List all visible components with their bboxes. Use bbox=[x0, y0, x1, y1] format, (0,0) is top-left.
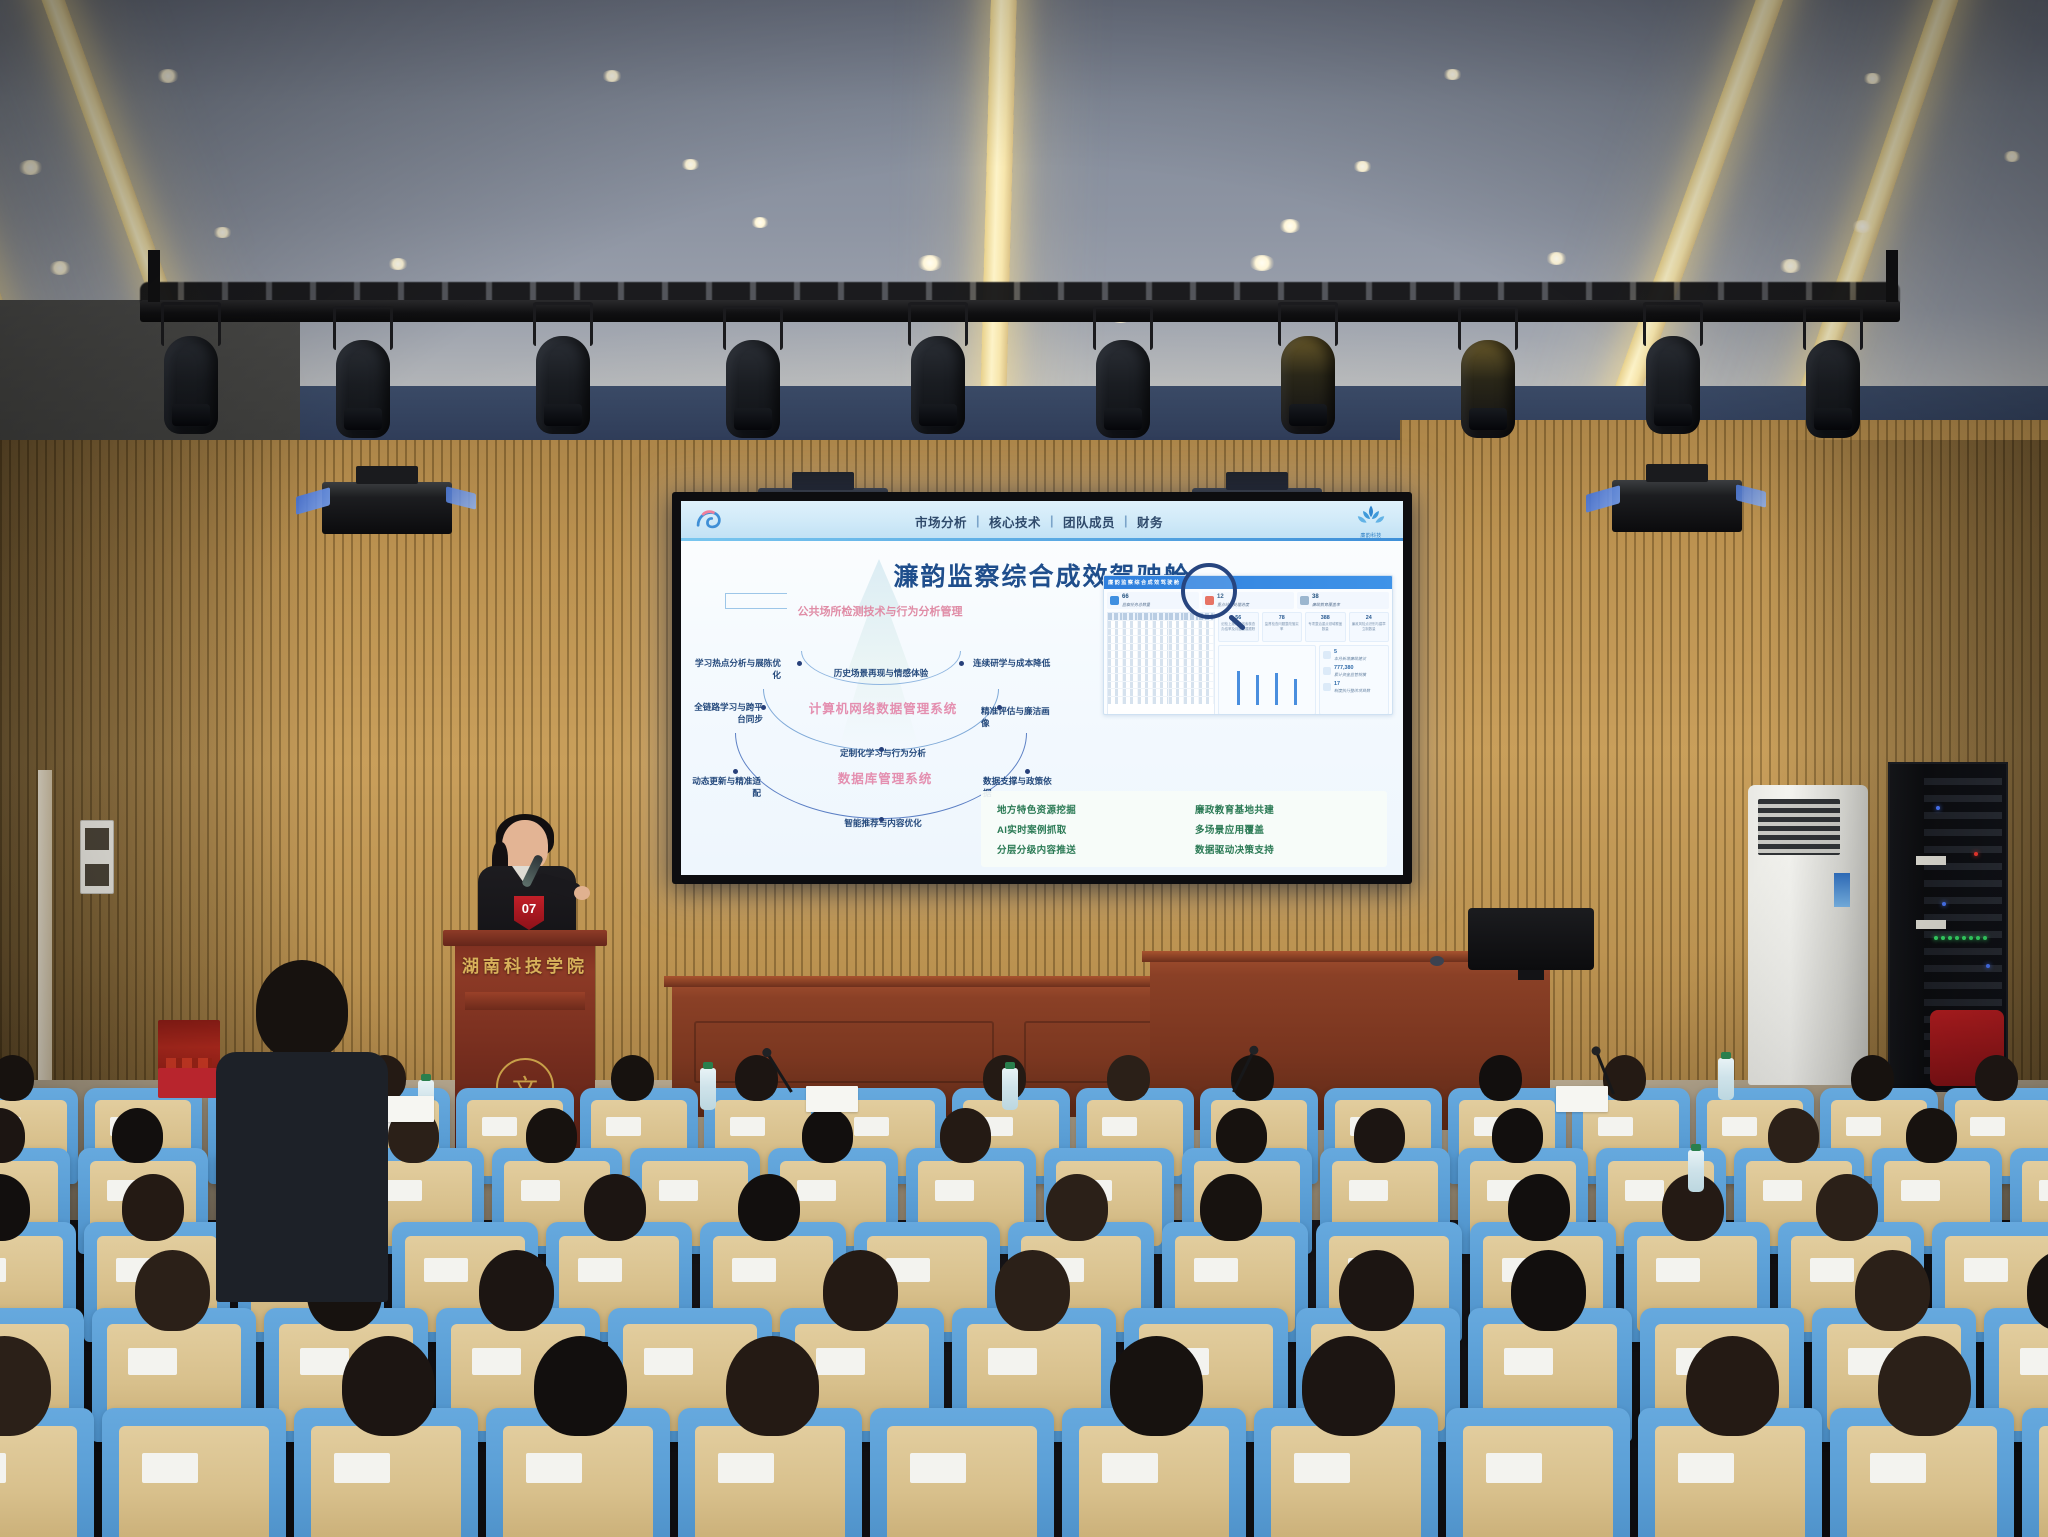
rack-unit bbox=[1924, 897, 2002, 904]
seat-number-label bbox=[1678, 1453, 1733, 1483]
dashboard-body: 56 纪检上报问题线索核查办结率及月度进展跟踪 78 监督检查问题整改落实率 3… bbox=[1104, 612, 1392, 715]
seat-number-label bbox=[1763, 1180, 1802, 1201]
audience-head bbox=[1479, 1055, 1522, 1101]
table-row bbox=[1108, 681, 1214, 689]
seat-number-label bbox=[659, 1180, 698, 1201]
nav-separator: | bbox=[1124, 514, 1128, 528]
stage-spotlight bbox=[720, 334, 786, 444]
side-stat-label: 本月新增廉政建议 bbox=[1334, 656, 1366, 661]
audience-head bbox=[1110, 1336, 1203, 1436]
mindmap-dot bbox=[761, 705, 766, 710]
kpi-value: 66 bbox=[1122, 594, 1150, 602]
audience-member bbox=[1855, 1250, 1930, 1331]
seat-number-label bbox=[1810, 1258, 1854, 1282]
rack-status-led bbox=[1936, 806, 1940, 810]
mindmap-node: 动态更新与精准适配 bbox=[689, 775, 761, 799]
downlight-icon bbox=[1863, 73, 1882, 85]
rack-unit bbox=[1924, 999, 2002, 1006]
nav-item-finance[interactable]: 财务 bbox=[1137, 512, 1163, 531]
downlight-icon bbox=[157, 69, 179, 83]
audience-head bbox=[122, 1174, 184, 1241]
lighting-truss bbox=[140, 300, 1900, 322]
audience-head bbox=[1339, 1250, 1414, 1331]
bar-group bbox=[1229, 671, 1305, 705]
truss-post bbox=[148, 250, 160, 302]
seat-number-label bbox=[526, 1453, 581, 1483]
monitor-stand bbox=[1518, 970, 1544, 980]
audience-head bbox=[1354, 1108, 1405, 1163]
downlight-icon bbox=[681, 159, 700, 171]
light-lens bbox=[919, 404, 957, 426]
audience-head bbox=[738, 1174, 800, 1241]
mindmap-core-label: 计算机网络数据管理系统 bbox=[797, 701, 969, 719]
mindmap-node: 学习热点分析与展陈优化 bbox=[689, 657, 781, 681]
stage-spotlight bbox=[530, 330, 596, 440]
table-row bbox=[1108, 696, 1214, 704]
standing-attendee bbox=[210, 960, 390, 1300]
audience-seat[interactable] bbox=[102, 1408, 286, 1537]
kpi-icon bbox=[1300, 596, 1309, 605]
table-row bbox=[1108, 688, 1214, 696]
truss-post bbox=[1886, 250, 1898, 302]
seat-number-label bbox=[142, 1453, 197, 1483]
seat-number-label bbox=[1722, 1117, 1757, 1136]
rack-status-led bbox=[1976, 936, 1980, 940]
audience-head bbox=[1603, 1055, 1646, 1101]
nav-separator: | bbox=[1050, 514, 1054, 528]
audience-member bbox=[738, 1174, 800, 1241]
ac-brand-label bbox=[1834, 873, 1850, 907]
mindmap-node: 精准评估与廉洁画像 bbox=[981, 705, 1055, 729]
side-stat-label: 制度执行整改项目数 bbox=[1334, 688, 1370, 693]
side-stat: 17 制度执行整改项目数 bbox=[1323, 681, 1385, 693]
audience-member bbox=[726, 1336, 819, 1436]
audience-head bbox=[1216, 1108, 1267, 1163]
lotus-logo: 廉韵科技 bbox=[1351, 503, 1391, 539]
dashboard-kpi-row: 66 监察任务总数量 12 重点线索处理进度 bbox=[1104, 589, 1392, 612]
seat-number-label bbox=[1846, 1117, 1881, 1136]
bullet-item: 地方特色资源挖掘 bbox=[997, 802, 1173, 816]
rack-unit bbox=[1924, 982, 2002, 989]
seat-number-label bbox=[644, 1348, 693, 1375]
audience-member bbox=[1046, 1174, 1108, 1241]
mindmap-dot bbox=[797, 661, 802, 666]
audience-member bbox=[995, 1250, 1070, 1331]
side-stat-label: 累计资金监管规模 bbox=[1334, 672, 1366, 677]
water-bottle bbox=[700, 1068, 716, 1110]
rack-status-led bbox=[1941, 936, 1945, 940]
audience-member bbox=[1200, 1174, 1262, 1241]
audience-member bbox=[1110, 1336, 1203, 1436]
rack-unit bbox=[1924, 965, 2002, 972]
downlight-icon bbox=[1852, 220, 1873, 233]
audience-member bbox=[122, 1174, 184, 1241]
audience-head bbox=[1107, 1055, 1150, 1101]
wall-control-panel[interactable] bbox=[80, 820, 114, 894]
bullet-column-left: 地方特色资源挖掘 AI实时案例抓取 分层分级内容推送 bbox=[997, 799, 1173, 859]
audience-member bbox=[1906, 1108, 1957, 1163]
light-lens bbox=[1104, 408, 1142, 430]
chart-bar bbox=[1294, 679, 1297, 705]
seat-number-label bbox=[606, 1117, 641, 1136]
slide-nav[interactable]: 市场分析 | 核心技术 | 团队成员 | 财务 bbox=[737, 512, 1341, 531]
seat-number-label bbox=[1294, 1453, 1349, 1483]
bullet-item: 数据驱动决策支持 bbox=[1195, 842, 1371, 856]
audience-member bbox=[1603, 1055, 1646, 1101]
audience-member bbox=[534, 1336, 627, 1436]
audience-member bbox=[802, 1108, 853, 1163]
bottle-cap bbox=[1005, 1062, 1015, 1069]
audience-member bbox=[526, 1108, 577, 1163]
mini-card-label: 监督检查问题整改落实率 bbox=[1265, 622, 1300, 631]
audience-member bbox=[135, 1250, 210, 1331]
podium-top bbox=[443, 930, 607, 946]
seat-number-label bbox=[1964, 1258, 2008, 1282]
audience-member bbox=[342, 1336, 435, 1436]
bullet-item: 分层分级内容推送 bbox=[997, 842, 1173, 856]
light-lens bbox=[544, 404, 582, 426]
standing-attendee-torso bbox=[216, 1052, 388, 1302]
dashboard-bar-chart bbox=[1218, 645, 1316, 715]
audience-head bbox=[584, 1174, 646, 1241]
audience-head bbox=[112, 1108, 163, 1163]
seat-number-label bbox=[1598, 1117, 1633, 1136]
seat-number-label bbox=[988, 1348, 1037, 1375]
rack-label-tag bbox=[1916, 920, 1946, 929]
audience-head bbox=[726, 1336, 819, 1436]
bottle-cap bbox=[1691, 1144, 1701, 1151]
audience-head bbox=[0, 1174, 30, 1241]
seat-number-label bbox=[1102, 1453, 1157, 1483]
presenter-hand bbox=[574, 886, 590, 900]
bottle-cap bbox=[421, 1074, 431, 1081]
rack-status-led bbox=[1955, 936, 1959, 940]
seat-number-label bbox=[1194, 1258, 1238, 1282]
audience-head bbox=[1200, 1174, 1262, 1241]
bullet-panel: 地方特色资源挖掘 AI实时案例抓取 分层分级内容推送 廉政教育基地共建 多场景应… bbox=[981, 791, 1387, 867]
dashboard-side-stats: 5 本月新增廉政建议 777,380 累计资金监管规模 bbox=[1319, 645, 1389, 715]
side-stat: 5 本月新增廉政建议 bbox=[1323, 649, 1385, 661]
mindmap-dot bbox=[733, 769, 738, 774]
audience-head bbox=[1231, 1055, 1274, 1101]
chart-bar bbox=[1256, 675, 1259, 705]
light-lens bbox=[1654, 404, 1692, 426]
presentation-screen[interactable]: 市场分析 | 核心技术 | 团队成员 | 财务 廉 bbox=[672, 492, 1412, 884]
audience-head bbox=[1975, 1055, 2018, 1101]
chart-bar bbox=[1237, 671, 1240, 705]
mini-card: 78 监督检查问题整改落实率 bbox=[1262, 612, 1303, 642]
bullet-item: 多场景应用覆盖 bbox=[1195, 822, 1371, 836]
audience-member bbox=[1231, 1055, 1274, 1101]
mini-card-value: 388 bbox=[1308, 615, 1343, 621]
table-row bbox=[1108, 643, 1214, 651]
seat-number-label bbox=[1870, 1453, 1925, 1483]
seat-number-label bbox=[935, 1180, 974, 1201]
kpi-label: 廉政教育覆盖率 bbox=[1312, 602, 1340, 607]
stage-spotlight bbox=[905, 330, 971, 440]
audience-member bbox=[611, 1055, 654, 1101]
seat-number-label bbox=[128, 1348, 177, 1375]
audience-head bbox=[1508, 1174, 1570, 1241]
downlight-icon bbox=[1249, 255, 1275, 271]
seat-number-label bbox=[0, 1453, 6, 1483]
audience-member bbox=[584, 1174, 646, 1241]
table-row bbox=[1108, 666, 1214, 674]
audience-head bbox=[534, 1336, 627, 1436]
bullet-item: 廉政教育基地共建 bbox=[1195, 802, 1371, 816]
bullet-column-right: 廉政教育基地共建 多场景应用覆盖 数据驱动决策支持 bbox=[1195, 799, 1371, 859]
nav-separator: | bbox=[976, 514, 980, 528]
audience-member bbox=[940, 1108, 991, 1163]
mini-card-value: 78 bbox=[1265, 615, 1300, 621]
audience-member bbox=[1339, 1250, 1414, 1331]
downlight-icon bbox=[18, 160, 43, 176]
stage-spotlight bbox=[1800, 334, 1866, 444]
slide-topbar: 市场分析 | 核心技术 | 团队成员 | 财务 廉 bbox=[681, 501, 1403, 541]
stage-spotlight bbox=[330, 334, 396, 444]
audience-head bbox=[479, 1250, 554, 1331]
downlight-icon bbox=[1279, 219, 1301, 233]
rack-unit bbox=[1924, 778, 2002, 785]
mindmap-header: 公共场所检测技术与行为分析管理 bbox=[785, 605, 975, 621]
downlight-icon bbox=[1779, 259, 1802, 273]
audience-member bbox=[0, 1108, 25, 1163]
seat-number-label bbox=[334, 1453, 389, 1483]
projector-mount bbox=[792, 472, 854, 490]
audience-member bbox=[1878, 1336, 1971, 1436]
downlight-icon bbox=[49, 261, 71, 275]
audience-head bbox=[1686, 1336, 1779, 1436]
audience-member bbox=[1816, 1174, 1878, 1241]
audience-head bbox=[611, 1055, 654, 1101]
rack-status-led bbox=[1986, 964, 1990, 968]
seat-number-label bbox=[1486, 1453, 1541, 1483]
side-stat-icon bbox=[1323, 651, 1331, 659]
water-bottle bbox=[1718, 1058, 1734, 1100]
mindmap-node: 全链路学习与跨平台同步 bbox=[689, 701, 763, 725]
dashboard-table bbox=[1107, 612, 1215, 715]
light-lens bbox=[344, 408, 382, 430]
downlight-icon bbox=[1353, 161, 1372, 173]
bottle-cap bbox=[703, 1062, 713, 1069]
audience-head bbox=[0, 1055, 34, 1101]
mindmap-dot bbox=[879, 817, 884, 822]
ceiling-projector bbox=[322, 482, 452, 534]
audience-member bbox=[2027, 1250, 2048, 1331]
seat-number-label bbox=[1349, 1180, 1388, 1201]
seat-number-label bbox=[1625, 1180, 1664, 1201]
audience-head bbox=[1851, 1055, 1894, 1101]
ceiling-projector bbox=[1612, 480, 1742, 532]
side-stat-icon bbox=[1323, 683, 1331, 691]
downlight-icon bbox=[213, 227, 232, 239]
stage-spotlight bbox=[1090, 334, 1156, 444]
rack-status-led bbox=[1942, 902, 1946, 906]
audience-member bbox=[0, 1174, 30, 1241]
dashboard-header-title: 廉韵监察综合成效驾驶舱 bbox=[1108, 579, 1180, 586]
audience-member bbox=[479, 1250, 554, 1331]
audience-head bbox=[1046, 1174, 1108, 1241]
mindmap-dot bbox=[997, 705, 1002, 710]
door-frame[interactable] bbox=[38, 770, 52, 1100]
seat-pad bbox=[0, 1426, 77, 1537]
rack-unit bbox=[1924, 846, 2002, 853]
light-lens bbox=[734, 408, 772, 430]
audience-member bbox=[1851, 1055, 1894, 1101]
audience-member bbox=[1302, 1336, 1395, 1436]
audience-member bbox=[1354, 1108, 1405, 1163]
audience-head bbox=[1768, 1108, 1819, 1163]
rack-unit bbox=[1924, 812, 2002, 819]
seat-pad bbox=[2039, 1426, 2048, 1537]
rack-status-led bbox=[1934, 936, 1938, 940]
audience-head bbox=[940, 1108, 991, 1163]
side-stat-value: 777,380 bbox=[1334, 665, 1366, 672]
stage-spotlight bbox=[158, 330, 224, 440]
audience-head bbox=[1302, 1336, 1395, 1436]
seat-number-label bbox=[578, 1258, 622, 1282]
kpi-label: 监察任务总数量 bbox=[1122, 602, 1150, 607]
audience-head bbox=[2027, 1250, 2048, 1331]
audience-head bbox=[823, 1250, 898, 1331]
mindmap-node: 连续研学与成本降低 bbox=[973, 657, 1053, 669]
audience-seat[interactable] bbox=[2022, 1408, 2048, 1537]
dashboard-screenshot: 廉韵监察综合成效驾驶舱 66 监察任务总数量 12 重点 bbox=[1103, 575, 1393, 715]
document-paper bbox=[806, 1086, 858, 1112]
audience-head bbox=[995, 1250, 1070, 1331]
audience-member bbox=[112, 1108, 163, 1163]
audience-head bbox=[135, 1250, 210, 1331]
mini-card: 388 专项整治重点领域覆盖数量 bbox=[1305, 612, 1346, 642]
audience-member bbox=[0, 1055, 34, 1101]
audience-head bbox=[0, 1336, 51, 1436]
projector-mount bbox=[1226, 472, 1288, 490]
audience-seat[interactable] bbox=[870, 1408, 1054, 1537]
seat-number-label bbox=[1504, 1348, 1553, 1375]
side-stat: 777,380 累计资金监管规模 bbox=[1323, 665, 1385, 677]
seat-number-label bbox=[1102, 1117, 1137, 1136]
table-row bbox=[1108, 635, 1214, 643]
rack-unit bbox=[1924, 829, 2002, 836]
rack-unit bbox=[1924, 948, 2002, 955]
rack-label-tag bbox=[1916, 856, 1946, 865]
rack-status-led bbox=[1948, 936, 1952, 940]
kpi-text: 66 监察任务总数量 bbox=[1122, 594, 1150, 607]
audience-head bbox=[1878, 1336, 1971, 1436]
kpi-card: 38 廉政教育覆盖率 bbox=[1297, 592, 1389, 609]
mini-card-value: 24 bbox=[1352, 615, 1387, 621]
dashboard-header: 廉韵监察综合成效驾驶舱 bbox=[1104, 576, 1392, 589]
podium-skirt bbox=[465, 992, 585, 1010]
audience-head bbox=[0, 1108, 25, 1163]
kpi-value: 38 bbox=[1312, 594, 1340, 602]
audience-member bbox=[1508, 1174, 1570, 1241]
mini-card-label: 廉政风险点识别与建章立制数量 bbox=[1352, 622, 1387, 631]
table-row bbox=[1108, 620, 1214, 628]
table-row bbox=[1108, 650, 1214, 658]
rack-status-led bbox=[1962, 936, 1966, 940]
audience-member bbox=[1768, 1108, 1819, 1163]
downlight-icon bbox=[1443, 69, 1462, 81]
mouse[interactable] bbox=[1430, 956, 1444, 966]
side-stat-value: 5 bbox=[1334, 649, 1366, 656]
audience-head bbox=[526, 1108, 577, 1163]
seat-number-label bbox=[797, 1180, 836, 1201]
side-stat-text: 777,380 累计资金监管规模 bbox=[1334, 665, 1366, 677]
rack-status-led bbox=[1974, 852, 1978, 856]
audience-seat[interactable] bbox=[1446, 1408, 1630, 1537]
downlight-icon bbox=[917, 255, 943, 271]
lecture-hall-scene: 市场分析 | 核心技术 | 团队成员 | 财务 廉 bbox=[0, 0, 2048, 1537]
audience-head bbox=[1511, 1250, 1586, 1331]
table-row bbox=[1108, 628, 1214, 636]
projector-mount bbox=[1646, 464, 1708, 482]
presenter-head bbox=[502, 820, 548, 872]
seat-number-label bbox=[910, 1453, 965, 1483]
audience-member bbox=[1107, 1055, 1150, 1101]
seat-number-label bbox=[424, 1258, 468, 1282]
audience-member bbox=[1216, 1108, 1267, 1163]
audience-head bbox=[1492, 1108, 1543, 1163]
audience-member bbox=[823, 1250, 898, 1331]
light-lens bbox=[172, 404, 210, 426]
control-monitor[interactable] bbox=[1468, 908, 1594, 970]
nav-item-market[interactable]: 市场分析 bbox=[915, 512, 967, 531]
seat-number-label bbox=[1656, 1258, 1700, 1282]
water-bottle bbox=[1002, 1068, 1018, 1110]
ac-grille-icon bbox=[1758, 799, 1840, 855]
table-row bbox=[1108, 658, 1214, 666]
seat-number-label bbox=[854, 1117, 889, 1136]
side-stat-icon bbox=[1323, 667, 1331, 675]
side-stat-value: 17 bbox=[1334, 681, 1370, 688]
rack-status-led bbox=[1969, 936, 1973, 940]
mindmap-dot bbox=[1025, 769, 1030, 774]
rack-unit bbox=[1924, 795, 2002, 802]
audience-member bbox=[1479, 1055, 1522, 1101]
podium-institution-name: 湖南科技学院 bbox=[455, 952, 595, 977]
seat-number-label bbox=[482, 1117, 517, 1136]
mini-card: 24 廉政风险点识别与建章立制数量 bbox=[1349, 612, 1390, 642]
seat-number-label bbox=[521, 1180, 560, 1201]
side-stat-text: 5 本月新增廉政建议 bbox=[1334, 649, 1366, 661]
light-lens bbox=[1289, 404, 1327, 426]
mini-card-label: 专项整治重点领域覆盖数量 bbox=[1308, 622, 1343, 631]
bottle-cap bbox=[1721, 1052, 1731, 1059]
seat-number-label bbox=[2039, 1180, 2048, 1201]
mindmap-dot bbox=[879, 747, 884, 752]
seat-number-label bbox=[732, 1258, 776, 1282]
nav-item-team[interactable]: 团队成员 bbox=[1063, 512, 1115, 531]
chart-bar bbox=[1275, 673, 1278, 705]
nav-item-tech[interactable]: 核心技术 bbox=[989, 512, 1041, 531]
seat-number-label bbox=[0, 1258, 6, 1282]
audience-member bbox=[1492, 1108, 1543, 1163]
light-lens bbox=[1469, 408, 1507, 430]
seat-number-label bbox=[816, 1348, 865, 1375]
audience-head bbox=[1855, 1250, 1930, 1331]
light-lens bbox=[1814, 408, 1852, 430]
bullet-item: AI实时案例抓取 bbox=[997, 822, 1173, 836]
audience-head bbox=[802, 1108, 853, 1163]
table-row bbox=[1108, 673, 1214, 681]
stage-spotlight bbox=[1640, 330, 1706, 440]
rack-unit bbox=[1924, 880, 2002, 887]
audience-member bbox=[1686, 1336, 1779, 1436]
audience-head bbox=[342, 1336, 435, 1436]
magnifier-icon bbox=[1181, 563, 1237, 619]
audience-member bbox=[1511, 1250, 1586, 1331]
